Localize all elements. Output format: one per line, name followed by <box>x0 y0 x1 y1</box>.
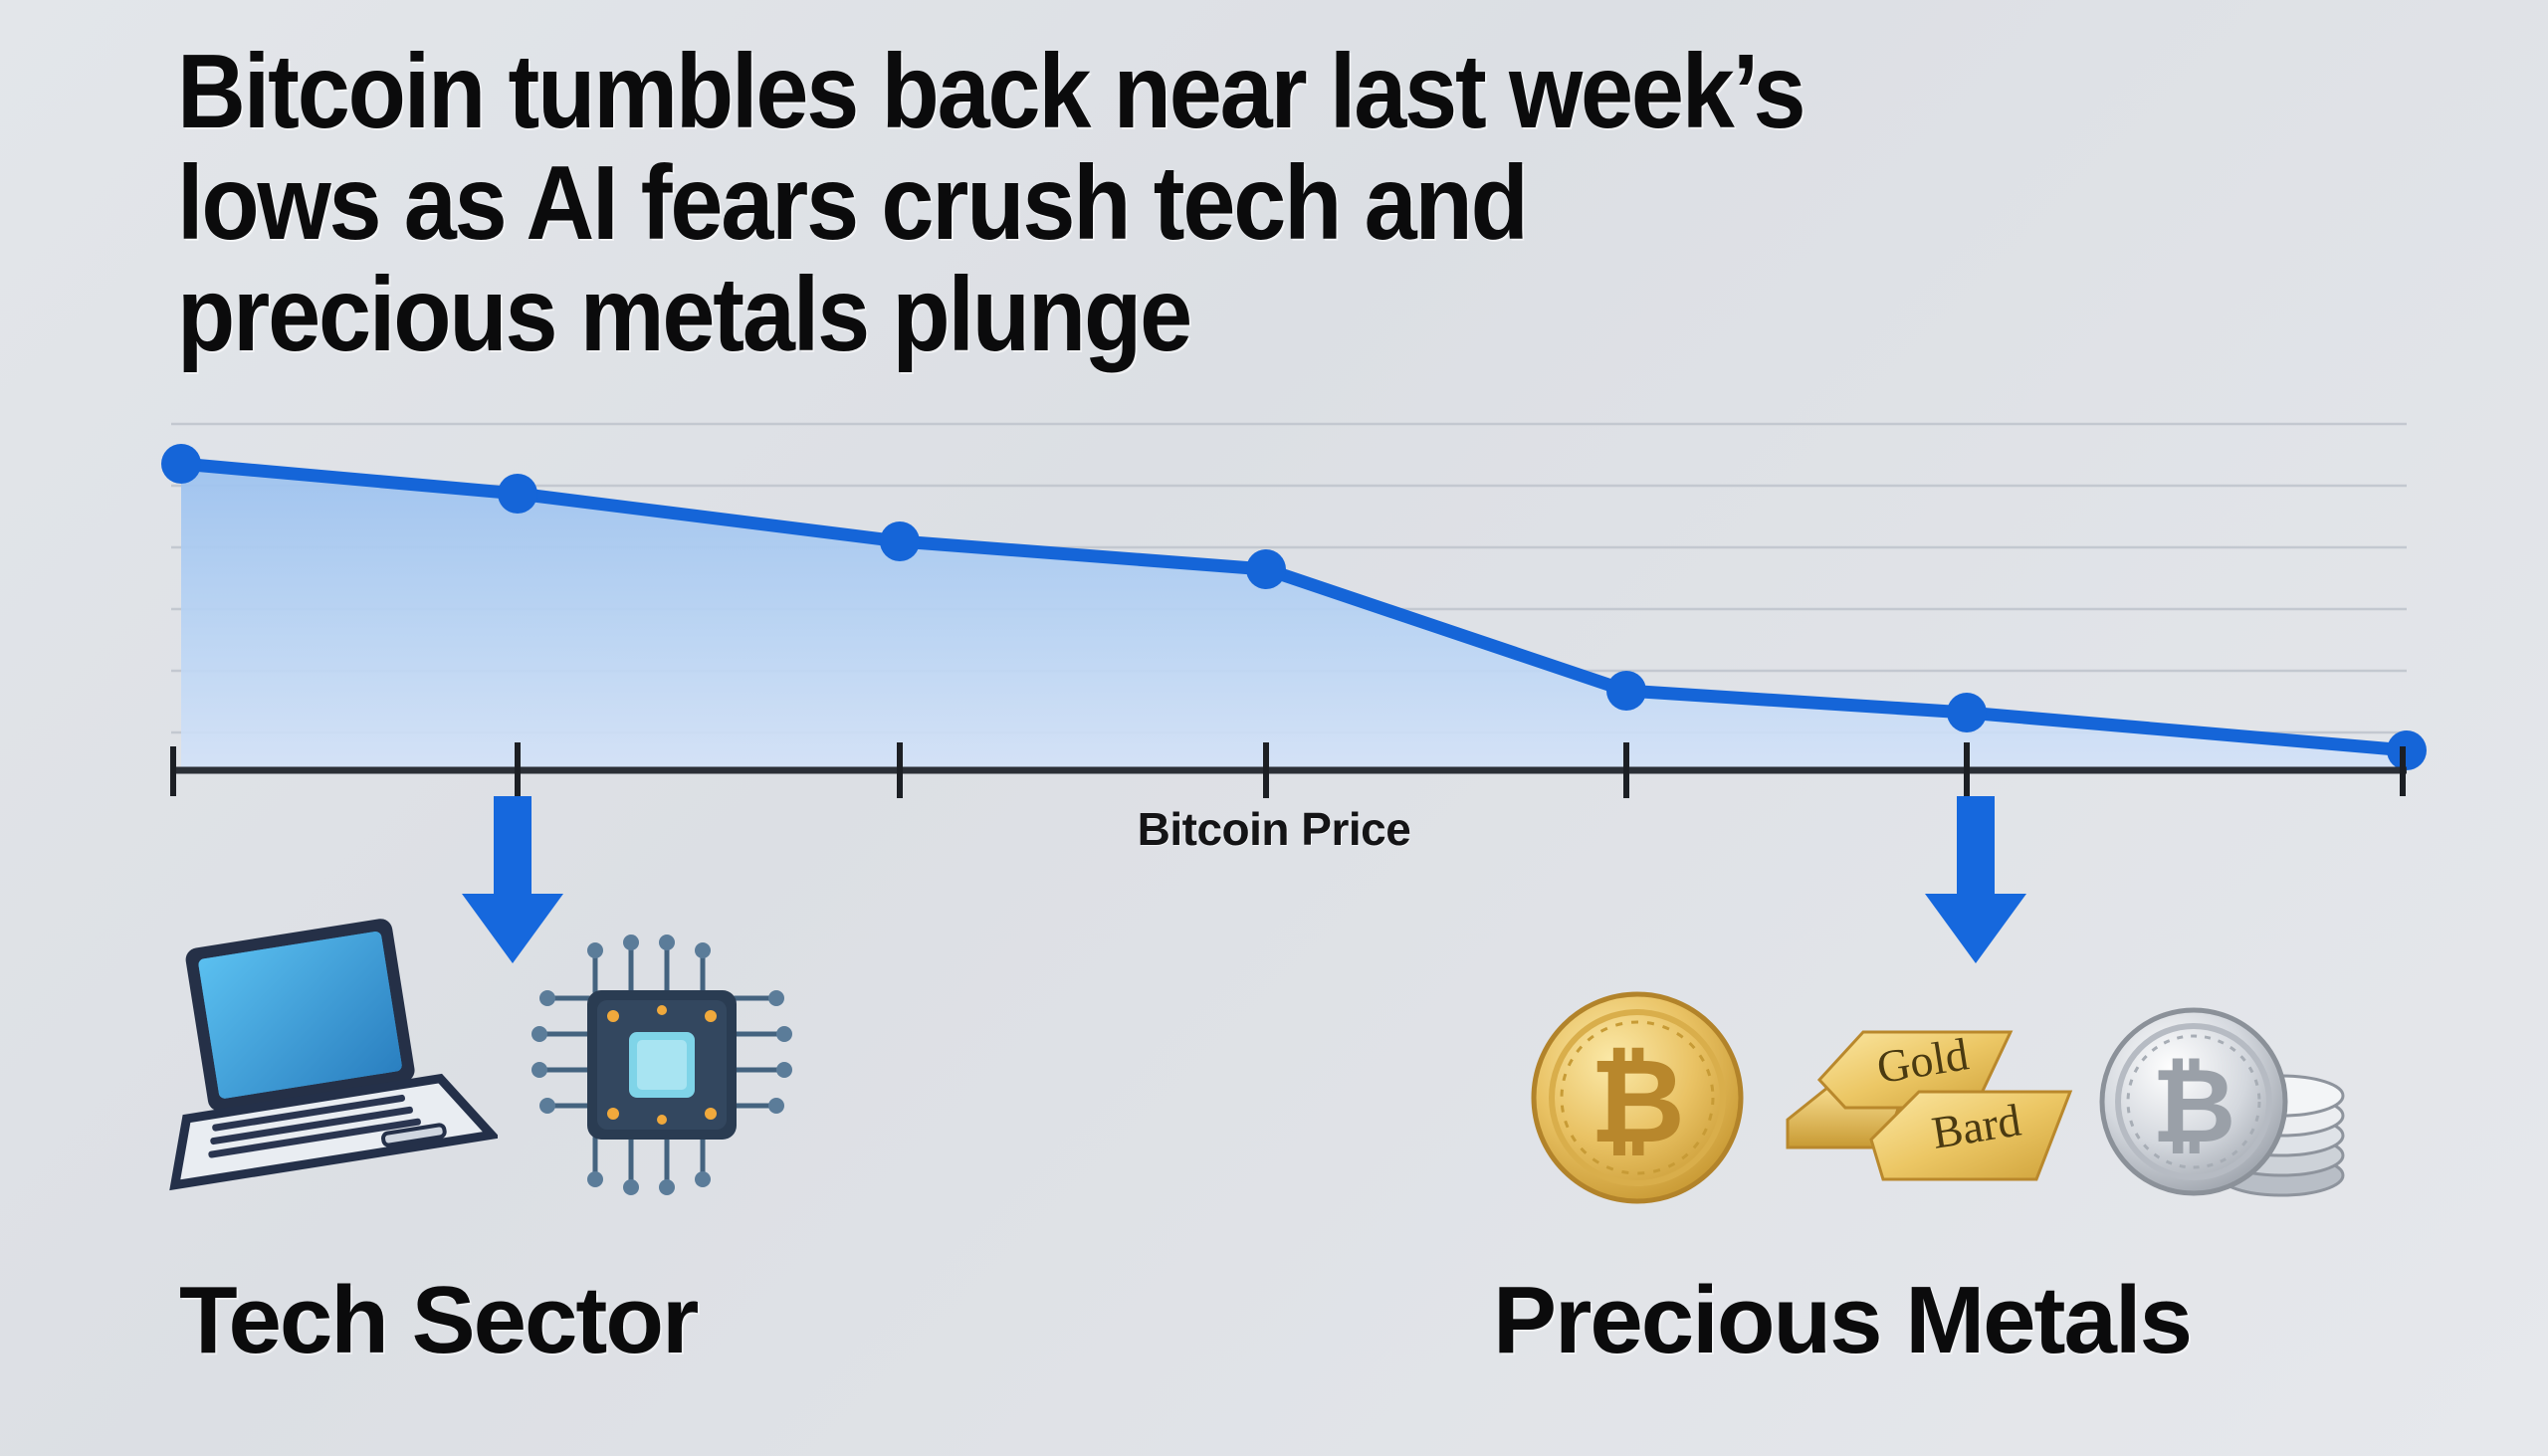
data-point <box>2387 730 2427 770</box>
bitcoin-price-chart <box>0 398 2548 816</box>
gold-bars-icon: Gold Bard <box>1780 980 2078 1209</box>
precious-metals-icon-group: ₿ Gold Bard <box>1513 980 2355 1209</box>
down-arrow-icon-metals <box>1921 796 2030 965</box>
data-point <box>498 474 537 514</box>
chart-svg <box>0 398 2548 816</box>
svg-text:₿: ₿ <box>1590 1036 1685 1167</box>
laptop-icon <box>159 911 498 1199</box>
bitcoin-gold-coin-icon: ₿ <box>1513 980 1762 1209</box>
data-point <box>1947 693 1987 732</box>
caption-precious-metals: Precious Metals <box>1493 1266 2191 1375</box>
data-point <box>1606 671 1646 711</box>
caption-tech-sector: Tech Sector <box>179 1266 697 1375</box>
data-point <box>161 444 201 484</box>
headline-line-1: Bitcoin tumbles back near last week’s <box>177 36 2139 147</box>
headline-line-3: precious metals plunge <box>177 259 2139 370</box>
microchip-icon <box>528 931 796 1199</box>
infographic-canvas: Bitcoin tumbles back near last week’s lo… <box>0 0 2548 1456</box>
data-point <box>1246 549 1286 589</box>
page-title: Bitcoin tumbles back near last week’s lo… <box>177 36 2139 370</box>
headline-line-2: lows as AI fears crush tech and <box>177 147 2139 259</box>
chart-axis-caption: Bitcoin Price <box>0 802 2548 856</box>
svg-text:₿: ₿ <box>2152 1049 2236 1164</box>
tech-sector-icon-group <box>159 911 796 1199</box>
silver-coins-icon: ₿ <box>2096 980 2355 1209</box>
data-point <box>880 521 920 561</box>
